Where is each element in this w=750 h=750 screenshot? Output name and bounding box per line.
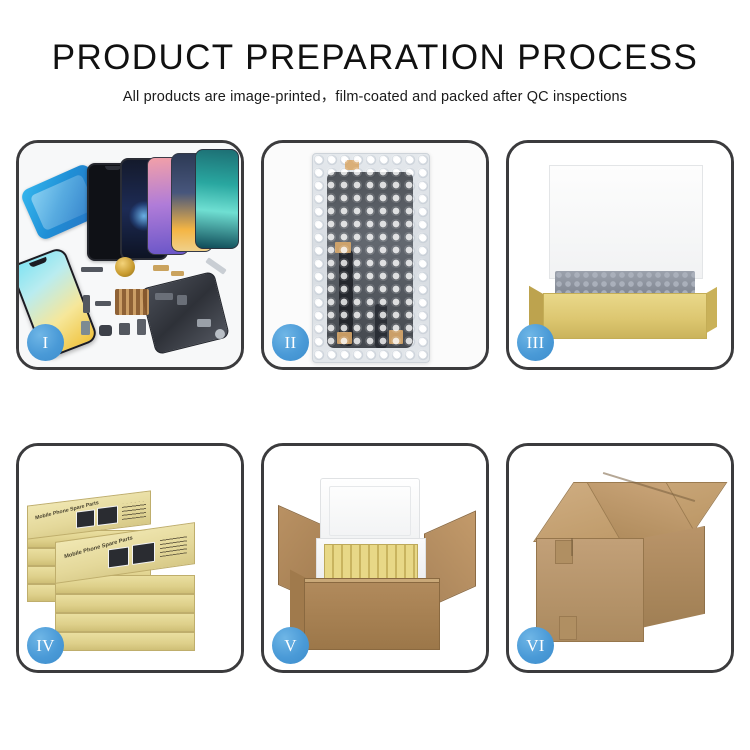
step-panel-6: VI xyxy=(506,443,734,673)
box-spec-lines-graphic xyxy=(122,501,146,520)
step-badge-4: IV xyxy=(27,627,64,664)
step-badge-2: II xyxy=(272,324,309,361)
tape-piece-graphic xyxy=(335,242,351,253)
step-panel-2: II xyxy=(261,140,489,370)
tape-piece-graphic xyxy=(345,160,359,170)
flex-cable-secondary-graphic xyxy=(375,304,387,348)
steps-grid: I II xyxy=(16,140,734,673)
tape-piece-graphic xyxy=(337,332,352,344)
carton-front-face-graphic xyxy=(536,538,644,642)
step-badge-5: V xyxy=(272,627,309,664)
step-badge-3: III xyxy=(517,324,554,361)
box-window-graphic xyxy=(76,509,95,528)
stacked-box xyxy=(55,632,195,651)
step-panel-1: I xyxy=(16,140,244,370)
step-badge-6: VI xyxy=(517,627,554,664)
carton-tape-bottom-graphic xyxy=(559,616,577,640)
carton-front-graphic xyxy=(304,582,440,650)
box-spec-lines-graphic xyxy=(160,535,187,557)
step-panel-3: III xyxy=(506,140,734,370)
carton-side-graphic xyxy=(641,526,705,628)
page-subtitle: All products are image-printed，film-coat… xyxy=(0,88,750,106)
step-panel-5: V xyxy=(261,443,489,673)
page-title: PRODUCT PREPARATION PROCESS xyxy=(0,38,750,78)
tape-piece-graphic xyxy=(389,330,403,344)
product-preparation-infographic: PRODUCT PREPARATION PROCESS All products… xyxy=(0,0,750,750)
box-base-graphic xyxy=(543,293,707,339)
box-window-graphic xyxy=(108,546,129,568)
box-window-graphic xyxy=(132,542,155,565)
step-badge-1: I xyxy=(27,324,64,361)
carton-seam-graphic xyxy=(571,538,573,556)
box-window-graphic xyxy=(97,505,118,526)
foam-box-lid-graphic xyxy=(320,478,420,544)
box-lid-graphic xyxy=(549,165,703,279)
stacked-box xyxy=(55,594,195,613)
bubble-wrap-bag-graphic xyxy=(312,153,430,363)
stacked-box xyxy=(55,613,195,632)
step-panel-4: Mobile Phone Spare Parts Mobile Phone Sp… xyxy=(16,443,244,673)
yellow-boxes-inside-graphic xyxy=(324,544,418,580)
header: PRODUCT PREPARATION PROCESS All products… xyxy=(0,38,750,106)
